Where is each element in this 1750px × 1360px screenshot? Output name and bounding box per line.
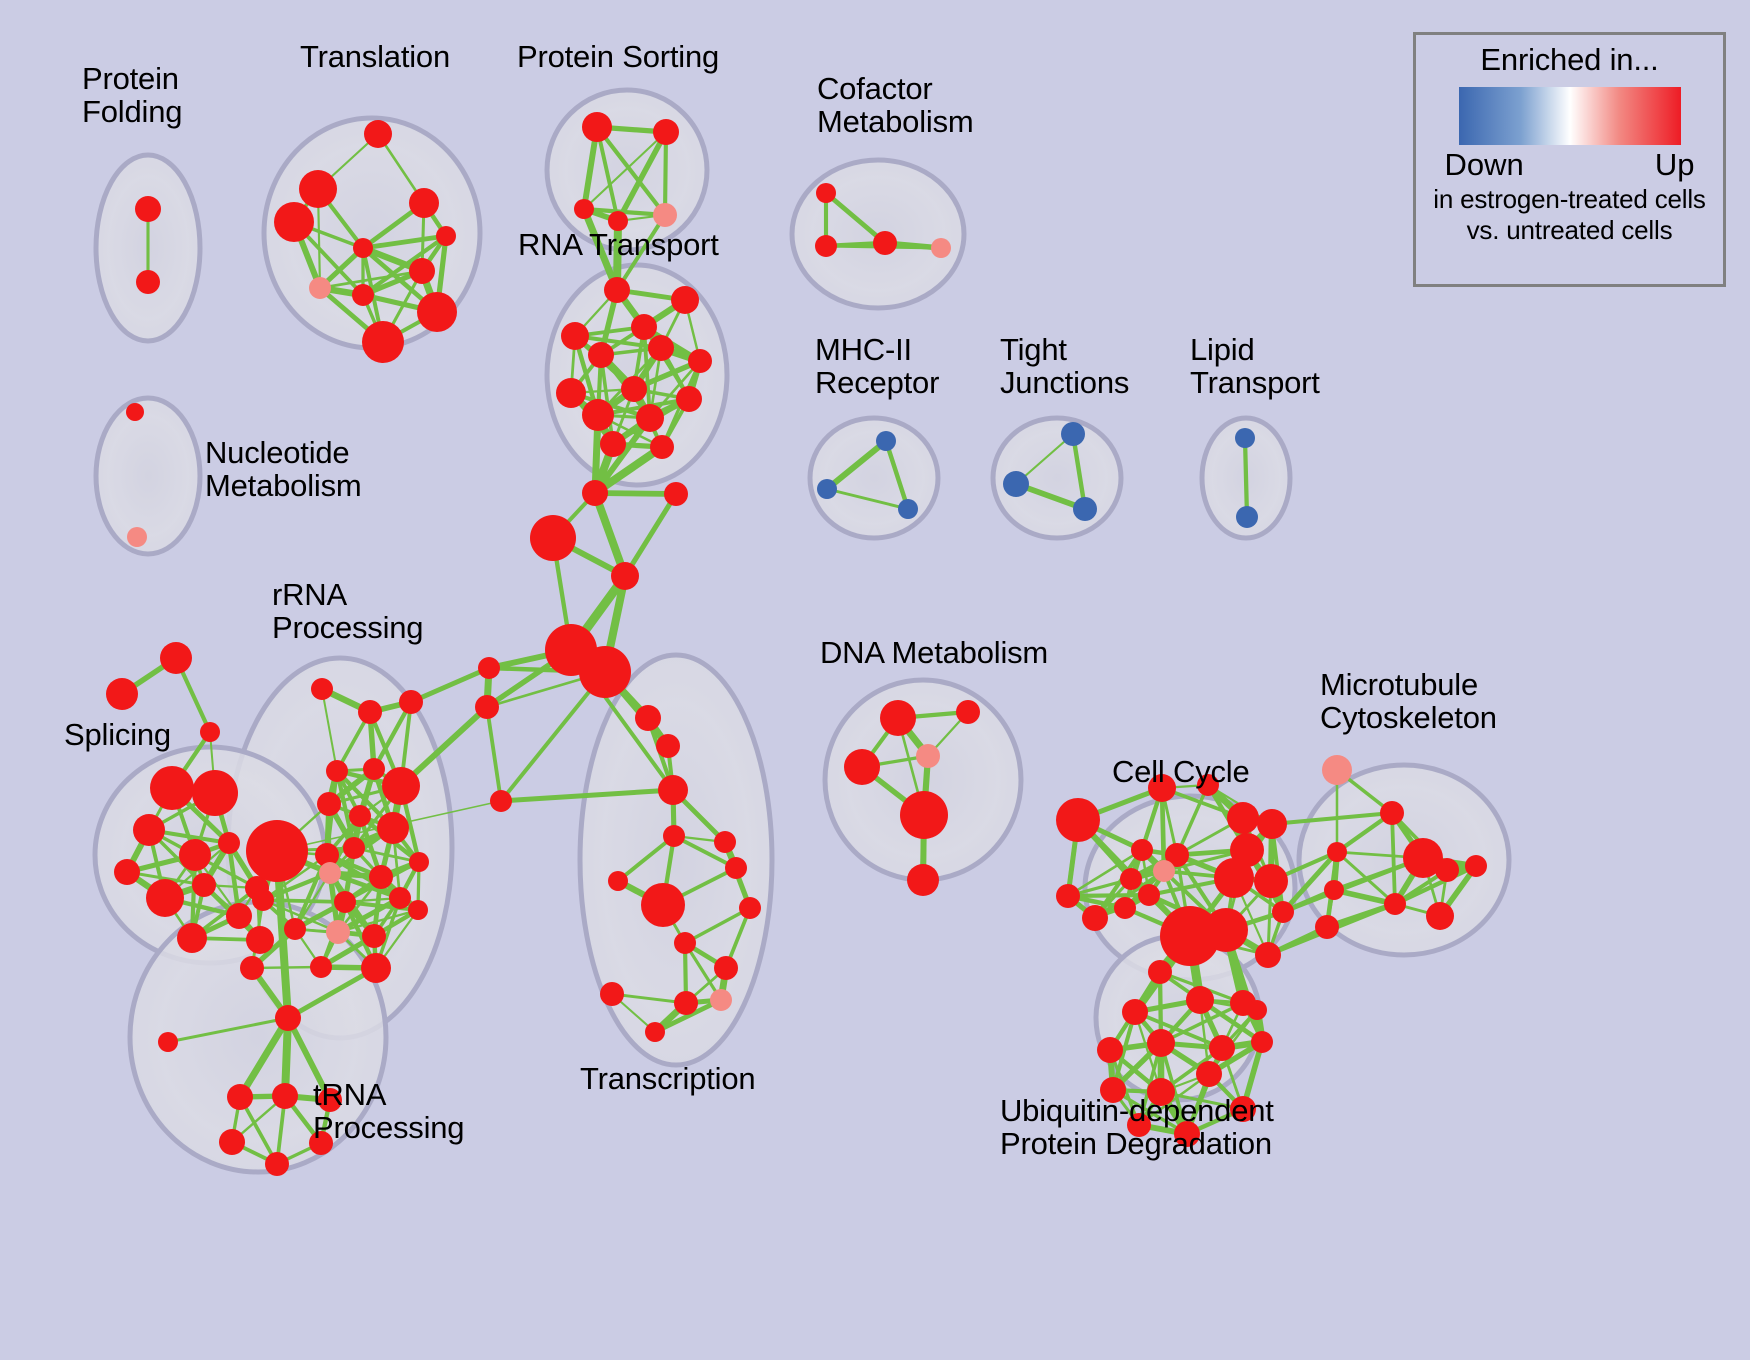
- network-node[interactable]: [334, 891, 356, 913]
- cluster-label-splicing: Splicing: [64, 718, 171, 751]
- network-node[interactable]: [674, 991, 698, 1015]
- network-node[interactable]: [160, 642, 192, 674]
- network-node[interactable]: [600, 982, 624, 1006]
- network-node[interactable]: [408, 900, 428, 920]
- network-node[interactable]: [653, 203, 677, 227]
- network-node[interactable]: [1056, 884, 1080, 908]
- network-node[interactable]: [817, 479, 837, 499]
- network-node[interactable]: [364, 120, 392, 148]
- network-node[interactable]: [1235, 428, 1255, 448]
- network-node[interactable]: [1061, 422, 1085, 446]
- network-node[interactable]: [478, 657, 500, 679]
- network-node[interactable]: [1247, 1000, 1267, 1020]
- network-node[interactable]: [475, 695, 499, 719]
- network-node[interactable]: [621, 376, 647, 402]
- network-node[interactable]: [1315, 915, 1339, 939]
- network-node[interactable]: [311, 678, 333, 700]
- network-node[interactable]: [931, 238, 951, 258]
- network-node[interactable]: [688, 349, 712, 373]
- network-node[interactable]: [382, 767, 420, 805]
- network-node[interactable]: [1003, 471, 1029, 497]
- network-node[interactable]: [1227, 802, 1259, 834]
- network-node[interactable]: [114, 859, 140, 885]
- network-node[interactable]: [227, 1084, 253, 1110]
- network-node[interactable]: [133, 814, 165, 846]
- network-node[interactable]: [1327, 842, 1347, 862]
- network-node[interactable]: [641, 883, 685, 927]
- network-node[interactable]: [674, 932, 696, 954]
- network-node[interactable]: [1148, 960, 1172, 984]
- network-edge: [1245, 438, 1247, 517]
- network-node[interactable]: [1120, 868, 1142, 890]
- network-node[interactable]: [409, 188, 439, 218]
- network-node[interactable]: [362, 321, 404, 363]
- network-node[interactable]: [650, 435, 674, 459]
- network-node[interactable]: [158, 1032, 178, 1052]
- network-node[interactable]: [880, 700, 916, 736]
- network-node[interactable]: [579, 646, 631, 698]
- cluster-label-tight-junctions: Tight Junctions: [1000, 333, 1129, 400]
- network-node[interactable]: [556, 378, 586, 408]
- network-node[interactable]: [136, 270, 160, 294]
- network-node[interactable]: [582, 112, 612, 142]
- legend-endpoints: Down Up: [1445, 147, 1695, 183]
- network-node[interactable]: [1082, 905, 1108, 931]
- network-node[interactable]: [219, 1129, 245, 1155]
- legend-high-label: Up: [1655, 147, 1695, 183]
- legend-caption-line-1: in estrogen-treated cells: [1416, 185, 1723, 214]
- network-edge: [263, 900, 345, 902]
- network-node[interactable]: [299, 170, 337, 208]
- network-node[interactable]: [246, 926, 274, 954]
- network-node[interactable]: [1209, 1035, 1235, 1061]
- network-node[interactable]: [1324, 880, 1344, 900]
- network-node[interactable]: [265, 1152, 289, 1176]
- network-node[interactable]: [135, 196, 161, 222]
- network-node[interactable]: [192, 770, 238, 816]
- network-node[interactable]: [363, 758, 385, 780]
- network-node[interactable]: [600, 431, 626, 457]
- network-node[interactable]: [310, 956, 332, 978]
- network-node[interactable]: [389, 887, 411, 909]
- cluster-label-nucleotide-metab: Nucleotide Metabolism: [205, 436, 362, 503]
- network-node[interactable]: [1122, 999, 1148, 1025]
- cluster-label-protein-sorting: Protein Sorting: [517, 40, 719, 73]
- network-node[interactable]: [275, 1005, 301, 1031]
- cluster-label-lipid-transport: Lipid Transport: [1190, 333, 1320, 400]
- network-node[interactable]: [349, 805, 371, 827]
- network-node[interactable]: [146, 879, 184, 917]
- network-node[interactable]: [284, 918, 306, 940]
- network-node[interactable]: [1097, 1037, 1123, 1063]
- network-node[interactable]: [126, 403, 144, 421]
- network-node[interactable]: [714, 956, 738, 980]
- cluster-label-protein-folding: Protein Folding: [82, 62, 182, 129]
- network-node[interactable]: [1465, 855, 1487, 877]
- network-node[interactable]: [1073, 497, 1097, 521]
- network-node[interactable]: [1114, 897, 1136, 919]
- network-node[interactable]: [876, 431, 896, 451]
- network-node[interactable]: [252, 889, 274, 911]
- network-node[interactable]: [1214, 858, 1254, 898]
- cluster-hull-mhc-ii-receptor: [810, 418, 938, 538]
- network-node[interactable]: [671, 286, 699, 314]
- network-node[interactable]: [1272, 901, 1294, 923]
- network-node[interactable]: [873, 231, 897, 255]
- network-node[interactable]: [319, 862, 341, 884]
- network-node[interactable]: [1131, 839, 1153, 861]
- legend-color-bar: [1459, 87, 1681, 145]
- network-node[interactable]: [844, 749, 880, 785]
- network-node[interactable]: [900, 791, 948, 839]
- network-node[interactable]: [361, 953, 391, 983]
- legend-panel: Enriched in... Down Up in estrogen-treat…: [1413, 32, 1726, 287]
- network-node[interactable]: [226, 903, 252, 929]
- network-figure: Protein FoldingTranslationProtein Sortin…: [0, 0, 1750, 1360]
- network-node[interactable]: [815, 235, 837, 257]
- network-node[interactable]: [1426, 902, 1454, 930]
- network-node[interactable]: [309, 277, 331, 299]
- network-node[interactable]: [409, 852, 429, 872]
- cluster-label-rrna-processing: rRNA Processing: [272, 578, 423, 645]
- network-node[interactable]: [1138, 884, 1160, 906]
- cluster-label-mhc-ii-receptor: MHC-II Receptor: [815, 333, 939, 400]
- network-node[interactable]: [611, 562, 639, 590]
- network-node[interactable]: [1153, 860, 1175, 882]
- network-node[interactable]: [1196, 1061, 1222, 1087]
- network-node[interactable]: [490, 790, 512, 812]
- network-node[interactable]: [317, 792, 341, 816]
- network-node[interactable]: [1056, 798, 1100, 842]
- network-node[interactable]: [272, 1083, 298, 1109]
- network-node[interactable]: [240, 956, 264, 980]
- network-node[interactable]: [192, 873, 216, 897]
- network-node[interactable]: [369, 865, 393, 889]
- cluster-label-dna-metabolism: DNA Metabolism: [820, 636, 1048, 669]
- network-node[interactable]: [530, 515, 576, 561]
- network-node[interactable]: [362, 924, 386, 948]
- cluster-hull-nucleotide-metab: [96, 398, 200, 554]
- network-node[interactable]: [604, 277, 630, 303]
- network-node[interactable]: [1435, 858, 1459, 882]
- network-node[interactable]: [574, 199, 594, 219]
- network-node[interactable]: [816, 183, 836, 203]
- network-node[interactable]: [588, 342, 614, 368]
- cluster-label-cell-cycle: Cell Cycle: [1112, 755, 1250, 788]
- network-node[interactable]: [645, 1022, 665, 1042]
- network-node[interactable]: [218, 832, 240, 854]
- network-node[interactable]: [561, 322, 589, 350]
- network-node[interactable]: [916, 744, 940, 768]
- cluster-label-microtubule: Microtubule Cytoskeleton: [1320, 668, 1497, 735]
- network-node[interactable]: [658, 775, 688, 805]
- network-node[interactable]: [436, 226, 456, 246]
- network-node[interactable]: [739, 897, 761, 919]
- network-node[interactable]: [664, 482, 688, 506]
- network-node[interactable]: [1380, 801, 1404, 825]
- network-node[interactable]: [710, 989, 732, 1011]
- network-node[interactable]: [656, 734, 680, 758]
- cluster-label-transcription: Transcription: [580, 1062, 755, 1095]
- network-node[interactable]: [352, 284, 374, 306]
- network-node[interactable]: [358, 700, 382, 724]
- network-node[interactable]: [635, 705, 661, 731]
- network-node[interactable]: [1384, 893, 1406, 915]
- legend-low-label: Down: [1445, 147, 1524, 183]
- network-node[interactable]: [1236, 506, 1258, 528]
- legend-title: Enriched in...: [1416, 42, 1723, 78]
- network-node[interactable]: [343, 837, 365, 859]
- network-node[interactable]: [326, 760, 348, 782]
- network-node[interactable]: [1255, 942, 1281, 968]
- network-node[interactable]: [177, 923, 207, 953]
- network-node[interactable]: [725, 857, 747, 879]
- network-node[interactable]: [648, 335, 674, 361]
- network-node[interactable]: [956, 700, 980, 724]
- network-node[interactable]: [326, 920, 350, 944]
- network-node[interactable]: [676, 386, 702, 412]
- network-node[interactable]: [582, 480, 608, 506]
- cluster-label-cofactor-metabolism: Cofactor Metabolism: [817, 72, 974, 139]
- network-node[interactable]: [898, 499, 918, 519]
- network-node[interactable]: [274, 202, 314, 242]
- network-node[interactable]: [663, 825, 685, 847]
- network-node[interactable]: [1186, 986, 1214, 1014]
- network-node[interactable]: [106, 678, 138, 710]
- network-node[interactable]: [353, 238, 373, 258]
- network-node[interactable]: [582, 399, 614, 431]
- legend-caption-line-2: vs. untreated cells: [1416, 216, 1723, 245]
- network-node[interactable]: [200, 722, 220, 742]
- network-node[interactable]: [714, 831, 736, 853]
- network-node[interactable]: [1322, 755, 1352, 785]
- network-node[interactable]: [608, 871, 628, 891]
- network-node[interactable]: [653, 119, 679, 145]
- network-node[interactable]: [150, 766, 194, 810]
- network-node[interactable]: [636, 404, 664, 432]
- network-node[interactable]: [399, 690, 423, 714]
- cluster-label-trna-processing: tRNA Processing: [313, 1078, 464, 1145]
- network-node[interactable]: [1204, 908, 1248, 952]
- network-node[interactable]: [1254, 864, 1288, 898]
- network-node[interactable]: [127, 527, 147, 547]
- cluster-label-ubiquitin: Ubiquitin-dependent Protein Degradation: [1000, 1094, 1274, 1161]
- network-node[interactable]: [907, 864, 939, 896]
- network-node[interactable]: [409, 258, 435, 284]
- network-node[interactable]: [417, 292, 457, 332]
- cluster-label-translation: Translation: [300, 40, 450, 73]
- network-node[interactable]: [179, 839, 211, 871]
- network-node[interactable]: [1251, 1031, 1273, 1053]
- network-node[interactable]: [377, 812, 409, 844]
- network-node[interactable]: [246, 820, 308, 882]
- cluster-label-rna-transport: RNA Transport: [518, 228, 719, 261]
- network-node[interactable]: [1257, 809, 1287, 839]
- network-node[interactable]: [1147, 1029, 1175, 1057]
- network-node[interactable]: [631, 314, 657, 340]
